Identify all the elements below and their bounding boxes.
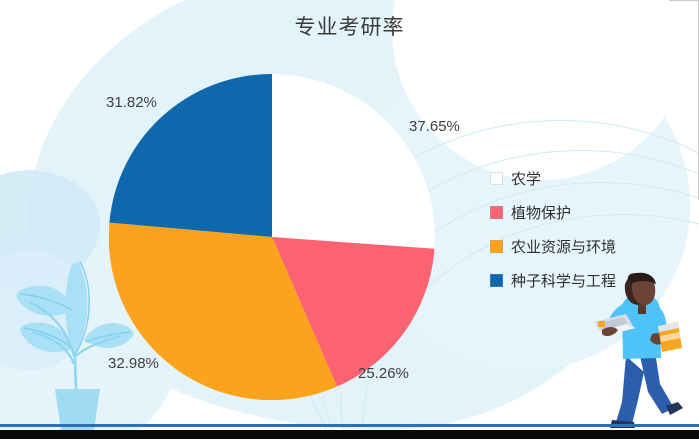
frame-edge-top xyxy=(669,0,699,1)
legend-swatch-icon-seed-science xyxy=(490,274,503,287)
legend-item-seed-science[interactable]: 种子科学与工程 xyxy=(490,270,616,291)
legend-swatch-icon-plant-protection xyxy=(490,206,503,219)
book xyxy=(658,322,682,352)
legend-label-agriculture: 农学 xyxy=(511,168,541,189)
legend-swatch-icon-resources-environment xyxy=(490,240,503,253)
bottom-black-bar xyxy=(0,430,699,439)
pie-label-plant-protection: 25.26% xyxy=(358,365,409,382)
pie-svg xyxy=(109,74,435,400)
pie-label-agriculture: 37.65% xyxy=(409,118,460,135)
pie-chart xyxy=(109,74,435,400)
pie-slice-agriculture[interactable] xyxy=(272,74,435,249)
person-with-laptop-illustration xyxy=(582,272,694,430)
legend-item-resources-environment[interactable]: 农业资源与环境 xyxy=(490,236,616,257)
legend-item-plant-protection[interactable]: 植物保护 xyxy=(490,202,616,223)
legend-item-agriculture[interactable]: 农学 xyxy=(490,168,616,189)
chart-legend: 农学 植物保护 农业资源与环境 种子科学与工程 xyxy=(490,168,616,291)
legend-label-resources-environment: 农业资源与环境 xyxy=(511,236,616,257)
person-legs xyxy=(610,356,683,428)
legend-label-seed-science: 种子科学与工程 xyxy=(511,270,616,291)
legend-swatch-icon-agriculture xyxy=(490,172,503,185)
chart-title: 专业考研率 xyxy=(0,11,699,41)
chart-canvas: 专业考研率 37.65% 25.26% 32.98% 31.82% 农学 植物保… xyxy=(0,0,699,439)
pie-label-seed-science: 31.82% xyxy=(106,94,157,111)
bottom-accent-rule xyxy=(0,424,699,427)
pie-label-resources-environment: 32.98% xyxy=(108,355,159,372)
legend-label-plant-protection: 植物保护 xyxy=(511,202,571,223)
